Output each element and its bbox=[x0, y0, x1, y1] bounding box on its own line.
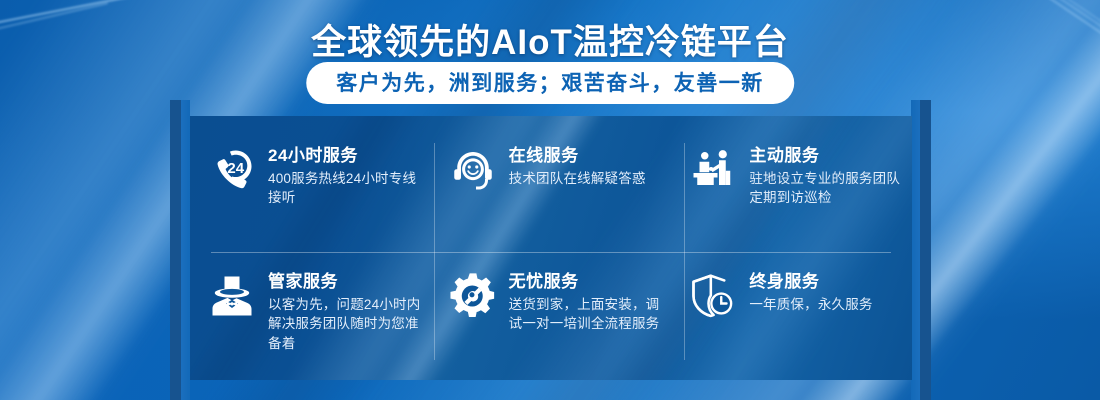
service-text: 在线服务 技术团队在线解疑答惑 bbox=[509, 144, 646, 188]
svg-text:24: 24 bbox=[227, 160, 244, 177]
service-text: 24小时服务 400服务热线24小时专线接听 bbox=[268, 144, 421, 208]
headset-smiley-icon bbox=[449, 146, 497, 194]
services-grid: 24 24小时服务 400服务热线24小时专线接听 bbox=[190, 116, 912, 380]
services-panel: 24 24小时服务 400服务热线24小时专线接听 bbox=[190, 116, 912, 380]
service-title: 24小时服务 bbox=[268, 145, 421, 166]
service-text: 管家服务 以客为先，问题24小时内解决服务团队随时为您准备着 bbox=[268, 270, 421, 353]
service-desc: 一年质保，永久服务 bbox=[749, 295, 872, 314]
service-text: 主动服务 驻地设立专业的服务团队定期到访巡检 bbox=[749, 144, 902, 208]
page-title: 全球领先的AIoT温控冷链平台 bbox=[0, 14, 1100, 65]
service-title: 无忧服务 bbox=[509, 271, 662, 292]
frame-edge-right bbox=[911, 100, 920, 400]
phone-24h-icon: 24 bbox=[208, 146, 256, 194]
service-text: 无忧服务 送货到家，上面安装，调试一对一培训全流程服务 bbox=[509, 270, 662, 334]
service-desc: 送货到家，上面安装，调试一对一培训全流程服务 bbox=[509, 295, 662, 333]
service-desc: 以客为先，问题24小时内解决服务团队随时为您准备着 bbox=[268, 295, 421, 352]
service-desc: 技术团队在线解疑答惑 bbox=[509, 169, 646, 188]
service-title: 管家服务 bbox=[268, 271, 421, 292]
slogan-pill: 客户为先，洲到服务；艰苦奋斗，友善一新 bbox=[306, 62, 794, 104]
service-desc: 驻地设立专业的服务团队定期到访巡检 bbox=[749, 169, 902, 207]
banner-header: 全球领先的AIoT温控冷链平台 客户为先，洲到服务；艰苦奋斗，友善一新 bbox=[0, 0, 1100, 104]
service-title: 在线服务 bbox=[509, 145, 646, 166]
service-title: 终身服务 bbox=[749, 271, 872, 292]
service-item-online[interactable]: 在线服务 技术团队在线解疑答惑 bbox=[431, 116, 672, 248]
service-item-lifetime[interactable]: 终身服务 一年质保，永久服务 bbox=[671, 248, 912, 380]
shield-clock-icon bbox=[689, 272, 737, 320]
service-item-24h[interactable]: 24 24小时服务 400服务热线24小时专线接听 bbox=[190, 116, 431, 248]
service-desc: 400服务热线24小时专线接听 bbox=[268, 169, 421, 207]
frame-edge-left bbox=[181, 100, 190, 400]
butler-tophat-icon bbox=[208, 272, 256, 320]
frame-bar-right bbox=[920, 100, 931, 400]
frame-bar-left bbox=[170, 100, 181, 400]
service-item-proactive[interactable]: 主动服务 驻地设立专业的服务团队定期到访巡检 bbox=[671, 116, 912, 248]
service-item-worryfree[interactable]: 无忧服务 送货到家，上面安装，调试一对一培训全流程服务 bbox=[431, 248, 672, 380]
service-text: 终身服务 一年质保，永久服务 bbox=[749, 270, 872, 314]
service-title: 主动服务 bbox=[749, 145, 902, 166]
service-item-butler[interactable]: 管家服务 以客为先，问题24小时内解决服务团队随时为您准备着 bbox=[190, 248, 431, 380]
service-desk-people-icon bbox=[689, 146, 737, 194]
gear-wrench-icon bbox=[449, 272, 497, 320]
